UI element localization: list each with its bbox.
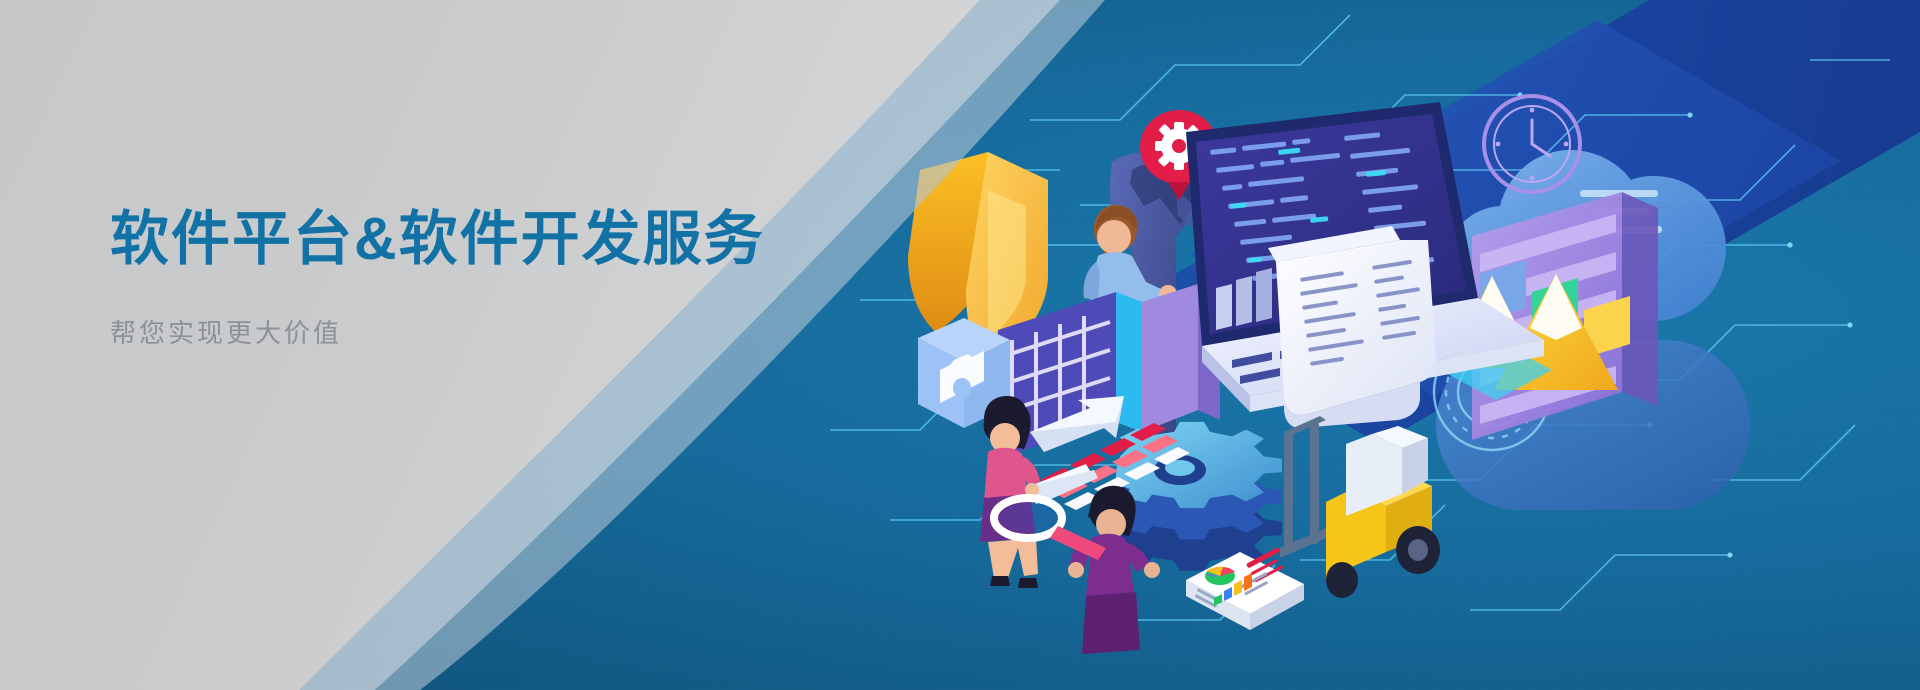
copy-block: 软件平台&软件开发服务 帮您实现更大价值	[110, 205, 765, 350]
clock-icon	[1484, 96, 1580, 192]
receipt-paper	[1268, 226, 1436, 428]
gear-stack-icon	[1116, 422, 1282, 571]
illustration-group	[880, 40, 1920, 670]
page-subtitle: 帮您实现更大价值	[110, 313, 765, 350]
banner-root: 软件平台&软件开发服务 帮您实现更大价值	[0, 0, 1920, 690]
page-title: 软件平台&软件开发服务	[110, 205, 765, 275]
forklift-icon	[1280, 416, 1440, 598]
pie-chart-icon	[1205, 567, 1235, 585]
